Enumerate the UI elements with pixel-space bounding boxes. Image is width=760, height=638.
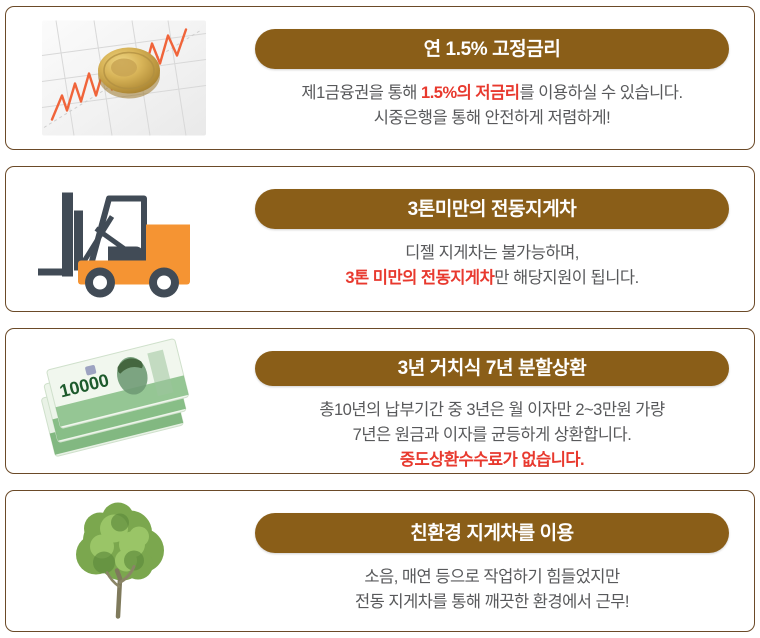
- card-content: 친환경 지게차를 이용 소음, 매연 등으로 작업하기 힘들었지만 전동 지게차…: [238, 491, 746, 631]
- korean-banknotes-photo: 10000 10000 10000: [34, 339, 214, 464]
- card-title: 친환경 지게차를 이용: [410, 524, 573, 543]
- card-body: 소음, 매연 등으로 작업하기 힘들었지만 전동 지게차를 통해 깨끗한 환경에…: [355, 565, 629, 615]
- body-highlight: 1.5%의 저금리: [421, 84, 519, 102]
- card-content: 3년 거치식 7년 분할상환 총10년의 납부기간 중 3년은 월 이자만 2~…: [238, 329, 746, 473]
- coin-on-chart-photo: [34, 16, 214, 141]
- card-title-banner: 3톤미만의 전동지게차: [255, 189, 729, 229]
- body-line: 7년은 원금과 이자를 균등하게 상환합니다.: [319, 423, 664, 448]
- body-text: 를 이용하실 수 있습니다.: [519, 84, 682, 102]
- promo-benefits-panel: 연 1.5% 고정금리 제1금융권을 통해 1.5%의 저금리를 이용하실 수 …: [0, 0, 760, 638]
- body-line-highlight: 중도상환수수료가 없습니다.: [319, 448, 664, 473]
- benefit-card-eco-friendly-forklift[interactable]: 친환경 지게차를 이용 소음, 매연 등으로 작업하기 힘들었지만 전동 지게차…: [5, 490, 755, 632]
- body-line: 3톤 미만의 전동지게차만 해당지원이 됩니다.: [345, 266, 638, 291]
- body-text: 만 해당지원이 됩니다.: [494, 269, 638, 287]
- body-line: 디젤 지게차는 불가능하며,: [345, 241, 638, 266]
- card-title-banner: 연 1.5% 고정금리: [255, 29, 729, 69]
- card-body: 디젤 지게차는 불가능하며, 3톤 미만의 전동지게차만 해당지원이 됩니다.: [345, 241, 638, 291]
- body-line: 제1금융권을 통해 1.5%의 저금리를 이용하실 수 있습니다.: [301, 81, 682, 106]
- green-tree-photo: [34, 499, 214, 624]
- benefit-card-fixed-interest-rate[interactable]: 연 1.5% 고정금리 제1금융권을 통해 1.5%의 저금리를 이용하실 수 …: [5, 6, 755, 150]
- benefit-card-3year-grace-7year-installment[interactable]: 10000 10000 10000: [5, 328, 755, 474]
- body-line: 총10년의 납부기간 중 3년은 월 이자만 2~3만원 가량: [319, 398, 664, 423]
- body-line: 소음, 매연 등으로 작업하기 힘들었지만: [355, 565, 629, 590]
- card-title: 연 1.5% 고정금리: [424, 40, 561, 59]
- body-line: 전동 지게차를 통해 깨끗한 환경에서 근무!: [355, 590, 629, 615]
- card-title: 3년 거치식 7년 분할상환: [398, 359, 587, 378]
- card-content: 3톤미만의 전동지게차 디젤 지게차는 불가능하며, 3톤 미만의 전동지게차만…: [238, 167, 746, 311]
- card-title: 3톤미만의 전동지게차: [408, 200, 577, 219]
- forklift-icon: [34, 177, 214, 302]
- card-content: 연 1.5% 고정금리 제1금융권을 통해 1.5%의 저금리를 이용하실 수 …: [238, 7, 746, 149]
- card-body: 총10년의 납부기간 중 3년은 월 이자만 2~3만원 가량 7년은 원금과 …: [319, 398, 664, 473]
- card-title-banner: 3년 거치식 7년 분할상환: [255, 351, 729, 386]
- body-line: 시중은행을 통해 안전하게 저렴하게!: [301, 106, 682, 131]
- card-body: 제1금융권을 통해 1.5%의 저금리를 이용하실 수 있습니다. 시중은행을 …: [301, 81, 682, 131]
- body-text: 제1금융권을 통해: [301, 84, 421, 102]
- body-highlight: 3톤 미만의 전동지게차: [345, 269, 494, 287]
- benefit-card-under-3ton-electric-forklift[interactable]: 3톤미만의 전동지게차 디젤 지게차는 불가능하며, 3톤 미만의 전동지게차만…: [5, 166, 755, 312]
- card-title-banner: 친환경 지게차를 이용: [255, 513, 729, 553]
